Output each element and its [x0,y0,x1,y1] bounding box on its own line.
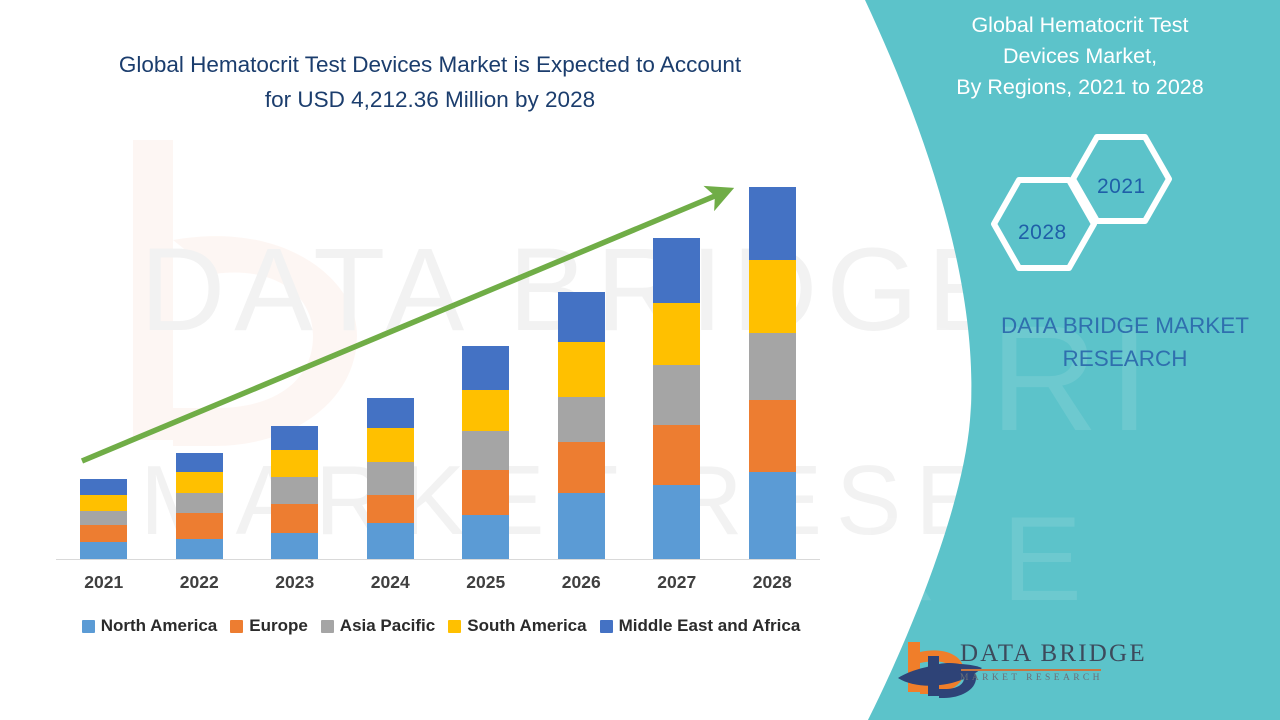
bar-segment [653,485,700,559]
bar-segment [749,333,796,400]
x-axis-label-2023: 2023 [247,572,343,593]
bar-segment [80,495,127,511]
legend-item[interactable]: South America [448,616,586,636]
bar-segment [271,450,318,477]
logo-name: DATA BRIDGE [960,640,1147,668]
legend-swatch-icon [321,620,334,633]
bar-segment [653,238,700,303]
bar-segment [653,303,700,365]
bar-group-2024 [343,160,439,559]
bar-segment [367,428,414,462]
x-axis-label-2026: 2026 [534,572,630,593]
legend-swatch-icon [448,620,461,633]
panel-brand-name: DATA BRIDGE MARKET RESEARCH [960,310,1280,375]
chart-legend: North AmericaEuropeAsia PacificSouth Ame… [56,616,826,636]
bar-segment [176,539,223,559]
x-axis-label-2028: 2028 [725,572,821,593]
bar-segment [749,187,796,260]
legend-swatch-icon [82,620,95,633]
stacked-bar [558,292,605,559]
bar-segment [176,493,223,513]
legend-swatch-icon [600,620,613,633]
legend-item[interactable]: Europe [230,616,308,636]
bar-segment [80,511,127,525]
bar-group-2025 [438,160,534,559]
logo-tagline: MARKET RESEARCH [960,673,1147,683]
bar-segment [80,525,127,542]
legend-item[interactable]: Middle East and Africa [600,616,801,636]
bar-group-2021 [56,160,152,559]
bar-group-2026 [534,160,630,559]
svg-text:R E: R E [850,492,1098,626]
bar-segment [271,477,318,504]
stacked-bar-chart [56,160,820,559]
legend-label: Europe [249,616,308,636]
bar-segment [367,495,414,523]
legend-swatch-icon [230,620,243,633]
x-axis-label-2022: 2022 [152,572,248,593]
bar-segment [749,472,796,559]
bar-segment [80,542,127,559]
hexagon-outlines-icon [985,125,1185,285]
bar-segment [462,431,509,470]
bar-segment [558,442,605,493]
chart-title-line-2: for USD 4,212.36 Million by 2028 [40,83,820,118]
bar-group-2028 [725,160,821,559]
legend-label: Middle East and Africa [619,616,801,636]
bar-segment [653,365,700,425]
slide-canvas: DATA BRIDGE MARKET RESEARCH Global Hemat… [0,0,1280,720]
stacked-bar [367,398,414,559]
panel-title-line-1: Global Hematocrit Test [900,10,1260,41]
legend-item[interactable]: Asia Pacific [321,616,435,636]
stacked-bar [80,479,127,559]
logo-divider [961,669,1101,671]
stacked-bar [462,346,509,559]
bar-segment [176,453,223,472]
hexagon-year-badges: 2021 2028 [985,125,1185,285]
bar-segment [749,260,796,333]
panel-title-line-2: Devices Market, [900,41,1260,72]
chart-title: Global Hematocrit Test Devices Market is… [40,48,820,118]
bar-segment [462,515,509,559]
bar-segment [558,397,605,442]
bar-segment [271,504,318,533]
hexagon-label-2028: 2028 [1018,221,1067,245]
bar-segment [176,472,223,493]
logo-wordmark: DATA BRIDGE MARKET RESEARCH [960,640,1147,683]
bar-group-2023 [247,160,343,559]
bar-segment [462,346,509,390]
bar-segment [749,400,796,472]
stacked-bar [271,426,318,559]
bar-segment [367,398,414,428]
stacked-bar [176,453,223,559]
x-axis-label-2025: 2025 [438,572,534,593]
bar-segment [367,462,414,495]
bar-segment [558,292,605,342]
bar-group-2027 [629,160,725,559]
x-axis-label-2021: 2021 [56,572,152,593]
bar-segment [80,479,127,495]
x-axis-label-2024: 2024 [343,572,439,593]
bar-segment [558,493,605,559]
bar-segment [653,425,700,485]
bar-segment [558,342,605,397]
bar-segment [271,426,318,450]
chart-title-line-1: Global Hematocrit Test Devices Market is… [40,48,820,83]
bar-segment [462,390,509,431]
panel-title-line-3: By Regions, 2021 to 2028 [900,72,1260,103]
x-axis-label-2027: 2027 [629,572,725,593]
legend-label: Asia Pacific [340,616,435,636]
stacked-bar [653,238,700,559]
bar-segment [367,523,414,559]
bar-segment [176,513,223,539]
legend-item[interactable]: North America [82,616,218,636]
x-axis-labels: 20212022202320242025202620272028 [56,572,820,593]
legend-label: North America [101,616,218,636]
bar-segment [271,533,318,559]
panel-brand-line-1: DATA BRIDGE MARKET [960,310,1280,343]
panel-brand-line-2: RESEARCH [960,343,1280,376]
bar-group-2022 [152,160,248,559]
stacked-bar [749,187,796,559]
legend-label: South America [467,616,586,636]
bar-segment [462,470,509,515]
panel-title: Global Hematocrit Test Devices Market, B… [900,10,1260,104]
x-axis-line [56,559,820,560]
hexagon-label-2021: 2021 [1097,175,1146,199]
